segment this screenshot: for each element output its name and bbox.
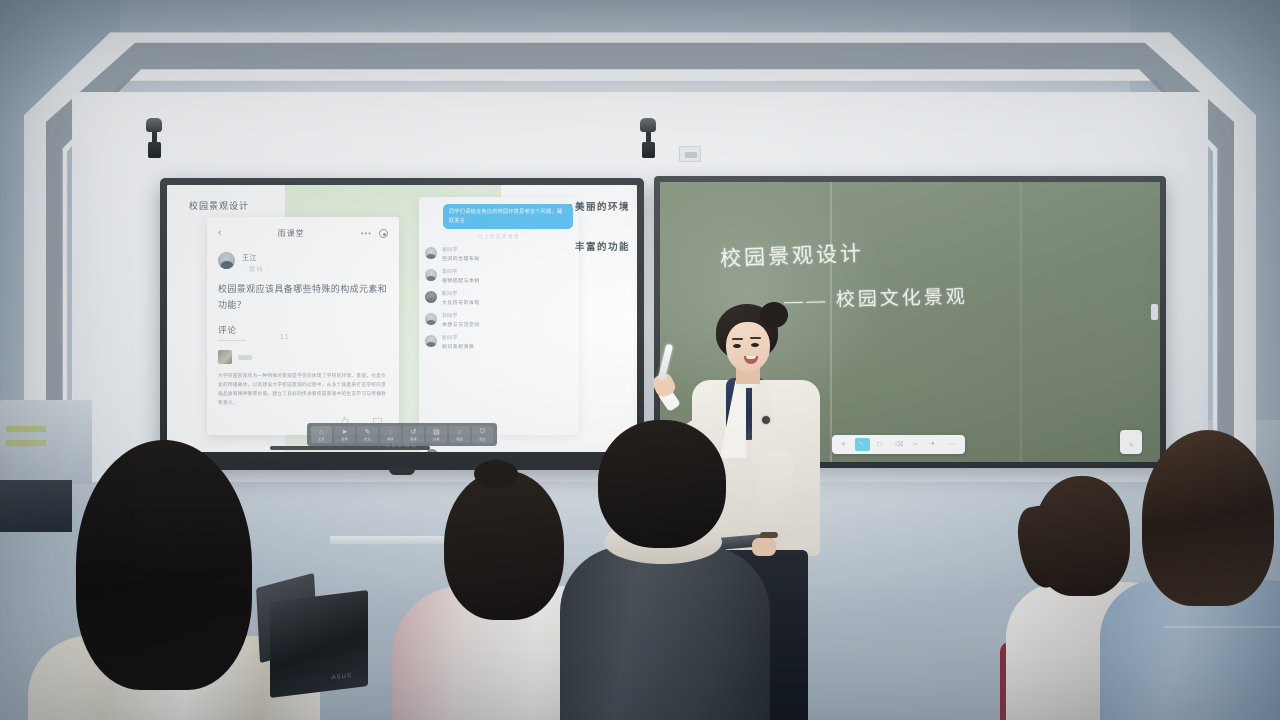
- student-torso: [560, 546, 770, 720]
- tab-comment-count: 11: [280, 334, 289, 341]
- board-more-button[interactable]: ⋯: [945, 438, 960, 451]
- toolbar-label: 主页: [318, 437, 324, 441]
- ifp-brand-logo: SEEWO: [386, 443, 418, 449]
- chalk-title: 校园景观设计: [719, 237, 864, 273]
- tab-comments[interactable]: 评论: [218, 324, 246, 336]
- laptop: ASUS: [258, 580, 368, 692]
- teacher-brow-left: [732, 338, 743, 340]
- board-side-button[interactable]: [1151, 304, 1158, 320]
- toolbar-cursor-button[interactable]: ➤ 选择: [334, 426, 355, 443]
- chat-message-text: 文化符号的体现: [442, 299, 573, 306]
- teacher-watch: [760, 532, 778, 538]
- more-icon: ⋯: [949, 441, 956, 448]
- chat-panel[interactable]: 同学们请结合身边的校园环境思考这个问题，踊跃发言 以上为历史消息 张同学 空间的…: [419, 197, 579, 435]
- chat-avatar: [425, 291, 437, 303]
- capture-icon: ○: [457, 429, 461, 436]
- teacher-brow-right: [750, 337, 761, 339]
- eraser-icon: ◌: [388, 429, 392, 436]
- post-body-text: 大学校园景观作为一种特殊的景观是不仅仅体现了学校的环境、景观，也是文化的传播载体…: [218, 372, 388, 408]
- board-shape-button[interactable]: ◻: [873, 438, 888, 451]
- chat-sender-name: 李同学: [442, 269, 573, 275]
- toolbar-home-button[interactable]: ⌂ 主页: [311, 426, 332, 443]
- chat-message: 张同学 空间的合理布局: [425, 247, 573, 262]
- chat-sender-name: 张同学: [442, 247, 573, 253]
- chat-system-note: 以上为历史消息: [425, 234, 573, 240]
- chat-message-text: 标识系统清晰: [442, 343, 573, 350]
- teacher-hair-bun: [760, 302, 788, 328]
- chat-message: 李同学 植物搭配与季相: [425, 269, 573, 284]
- classroom-scene: 校园景观设计 ‹ 雨课堂 ••• 王江 · 提问 ·: [0, 0, 1280, 720]
- exit-icon: ⎋: [480, 428, 486, 436]
- student-hair: [1034, 476, 1130, 596]
- toolbar-label: 白板: [433, 437, 439, 441]
- back-icon[interactable]: ‹: [218, 228, 222, 239]
- app-card[interactable]: ‹ 雨课堂 ••• 王江 · 提问 · 校园景观应该具备哪些特殊的构成元素和功能…: [207, 217, 399, 435]
- comment-author-name: [238, 355, 252, 360]
- toolbar-label: 选择: [341, 437, 347, 441]
- post-tabs: 评论 11: [218, 324, 388, 342]
- board-pen-button[interactable]: ✎: [855, 438, 870, 451]
- toolbar-pen-button[interactable]: ✎ 批注: [357, 426, 378, 443]
- stylus: [658, 344, 674, 381]
- board-toolbar[interactable]: ✛ ✎ ◻ ⌫ ✂ ● ⋯: [832, 435, 965, 454]
- student-hair: [76, 440, 252, 690]
- student-center-dark: [570, 420, 760, 720]
- board-lasso-button[interactable]: ✂: [909, 438, 924, 451]
- toolbar-undo-button[interactable]: ↺ 撤销: [403, 426, 424, 443]
- eraser-icon: ⌫: [895, 441, 902, 448]
- lasso-icon: ✂: [913, 441, 920, 448]
- tab-underline: [218, 340, 246, 342]
- avatar: [218, 252, 235, 269]
- ifp-screen[interactable]: 校园景观设计 ‹ 雨课堂 ••• 王江 · 提问 ·: [167, 185, 637, 452]
- highlight-label-1: 美丽的环境: [575, 199, 637, 213]
- denim-seam: [1164, 626, 1280, 628]
- chat-message-text: 空间的合理布局: [442, 255, 573, 262]
- app-header: ‹ 雨课堂 •••: [218, 225, 388, 241]
- pen-icon: ✎: [859, 441, 866, 448]
- comment-avatar: [218, 350, 232, 364]
- app-header-title: 雨课堂: [278, 228, 305, 239]
- ceiling-camera-left-icon: [146, 118, 162, 158]
- toolbar-eraser-button[interactable]: ◌ 擦除: [380, 426, 401, 443]
- student-hair: [598, 420, 726, 548]
- chat-outgoing-bubble: 同学们请结合身边的校园环境思考这个问题，踊跃发言: [443, 204, 573, 229]
- post-meta: · 提问 ·: [242, 265, 272, 273]
- chat-avatar: [425, 335, 437, 347]
- student-hair: [444, 470, 564, 620]
- chat-message-text: 植物搭配与季相: [442, 277, 573, 284]
- student-hair: [1142, 430, 1274, 606]
- app-header-actions: •••: [361, 229, 388, 238]
- chat-message: 刘同学 休憩与交流空间: [425, 313, 573, 328]
- chat-message-text: 休憩与交流空间: [442, 321, 573, 328]
- toolbar-board-button[interactable]: ▤ 白板: [426, 426, 447, 443]
- wall-outlet: [679, 146, 701, 162]
- post-question: 校园景观应该具备哪些特殊的构成元素和功能？: [218, 282, 388, 314]
- chat-message: 陈同学 文化符号的体现: [425, 291, 573, 306]
- more-menu-icon[interactable]: •••: [361, 229, 372, 238]
- ceiling-camera-right-icon: [640, 118, 656, 158]
- post-author-row: 王江 · 提问 ·: [218, 252, 388, 273]
- teacher-eye-left: [733, 344, 741, 348]
- post-author-name: 王江: [242, 253, 272, 263]
- slide-title: 校园景观设计: [189, 199, 249, 212]
- toolbar-label: 擦除: [387, 437, 393, 441]
- student-ponytail-tie: [474, 460, 518, 488]
- toolbar-capture-button[interactable]: ○ 截图: [449, 426, 470, 443]
- teacher-badge: [762, 416, 770, 424]
- board-select-button[interactable]: ✛: [837, 438, 852, 451]
- toolbar-label: 退出: [479, 437, 485, 441]
- laptop-lid: ASUS: [270, 590, 368, 698]
- toolbar-label: 截图: [456, 437, 462, 441]
- toolbar-label: 批注: [364, 437, 370, 441]
- slide-highlight-labels: 美丽的环境 丰富的功能: [575, 199, 637, 253]
- comment-author-row: [218, 350, 388, 364]
- chat-avatar: [425, 247, 437, 259]
- laptop-brand: ASUS: [332, 673, 352, 681]
- highlight-label-2: 丰富的功能: [575, 239, 637, 253]
- pen-icon: ✎: [364, 428, 370, 436]
- chat-sender-name: 赵同学: [442, 335, 573, 341]
- shape-icon: ◻: [877, 441, 884, 448]
- board-eraser-button[interactable]: ⌫: [891, 438, 906, 451]
- select-icon: ✛: [841, 441, 848, 448]
- teacher-eye-right: [751, 343, 759, 347]
- cursor-icon: ➤: [341, 428, 347, 436]
- chat-avatar: [425, 313, 437, 325]
- toolbar-label: 撤销: [410, 437, 416, 441]
- undo-icon: ↺: [410, 428, 416, 436]
- board-color-button[interactable]: ●: [927, 438, 942, 451]
- home-icon: ⌂: [319, 429, 323, 436]
- chat-message: 赵同学 标识系统清晰: [425, 335, 573, 350]
- close-circle-icon[interactable]: [379, 229, 388, 238]
- color-icon: ●: [931, 441, 938, 448]
- toolbar-exit-button[interactable]: ⎋ 退出: [472, 426, 493, 443]
- chat-sender-name: 陈同学: [442, 291, 573, 297]
- chat-sender-name: 刘同学: [442, 313, 573, 319]
- board-icon: ▤: [433, 428, 440, 436]
- chat-avatar: [425, 269, 437, 281]
- student-denim-jacket: [1124, 430, 1280, 720]
